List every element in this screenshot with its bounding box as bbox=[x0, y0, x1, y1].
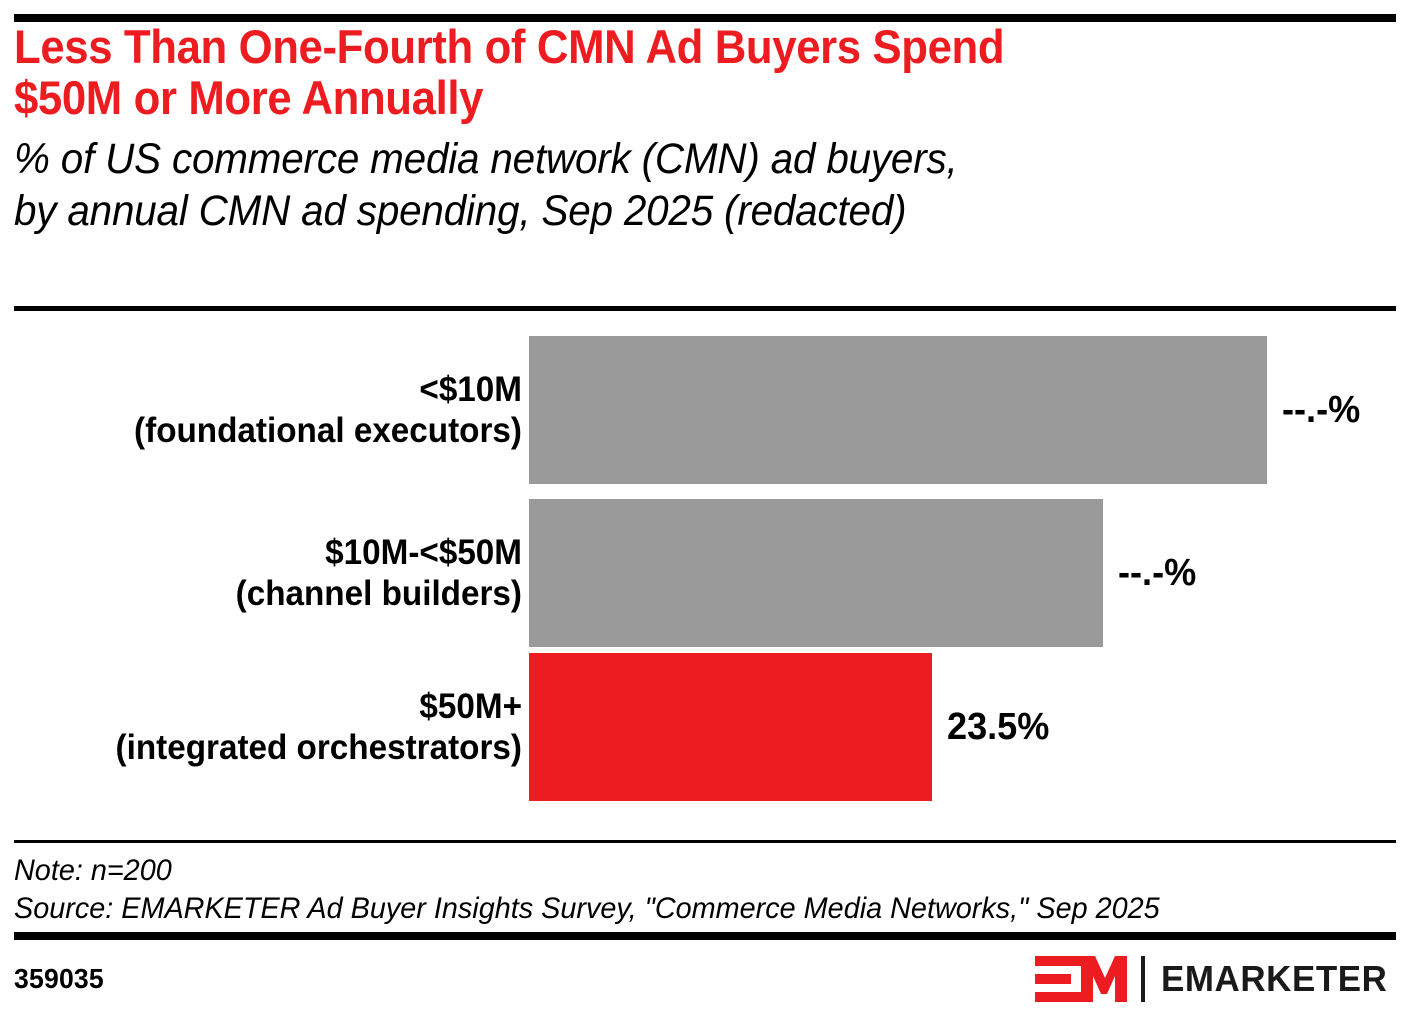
emarketer-logo[interactable]: EMARKETER bbox=[1035, 956, 1394, 1002]
logo-divider bbox=[1141, 956, 1145, 1002]
bottom-divider bbox=[14, 932, 1396, 940]
footer-bottom-bar: 359035 EMARKETER bbox=[14, 948, 1396, 1010]
footer-notes: Note: n=200 Source: EMARKETER Ad Buyer I… bbox=[14, 852, 1341, 928]
chart-id: 359035 bbox=[14, 963, 104, 995]
bar-row: $50M+ (integrated orchestrators) 23.5% bbox=[14, 653, 1396, 801]
chart-header: Less Than One-Fourth of CMN Ad Buyers Sp… bbox=[14, 14, 1396, 237]
chart-title: Less Than One-Fourth of CMN Ad Buyers Sp… bbox=[14, 21, 1299, 123]
bar-2[interactable] bbox=[529, 499, 1103, 647]
value-label-3: 23.5% bbox=[947, 708, 1049, 746]
chart-subtitle: % of US commerce media network (CMN) ad … bbox=[14, 133, 1313, 237]
source-line: Source: EMARKETER Ad Buyer Insights Surv… bbox=[14, 890, 1341, 928]
bar-1[interactable] bbox=[529, 336, 1267, 484]
em-monogram-icon bbox=[1035, 956, 1127, 1002]
category-label-1: <$10M (foundational executors) bbox=[39, 369, 522, 451]
bar-row: $10M-<$50M (channel builders) --.-% bbox=[14, 499, 1396, 647]
plot-area: <$10M (foundational executors) --.-% $10… bbox=[14, 322, 1396, 817]
header-divider bbox=[14, 306, 1396, 311]
category-label-2: $10M-<$50M (channel builders) bbox=[39, 532, 522, 614]
logo-wordmark: EMARKETER bbox=[1161, 958, 1387, 1000]
value-label-1: --.-% bbox=[1282, 391, 1360, 429]
footer-rule-thick bbox=[14, 932, 1396, 940]
bar-row: <$10M (foundational executors) --.-% bbox=[14, 336, 1396, 484]
chart-card: Less Than One-Fourth of CMN Ad Buyers Sp… bbox=[14, 0, 1396, 1021]
bar-3[interactable] bbox=[529, 653, 932, 801]
category-label-3: $50M+ (integrated orchestrators) bbox=[39, 686, 522, 768]
footer-rule-thin bbox=[14, 840, 1396, 843]
note-line: Note: n=200 bbox=[14, 852, 1341, 890]
header-rule bbox=[14, 306, 1396, 311]
value-label-2: --.-% bbox=[1118, 554, 1196, 592]
footer-divider bbox=[14, 840, 1396, 843]
